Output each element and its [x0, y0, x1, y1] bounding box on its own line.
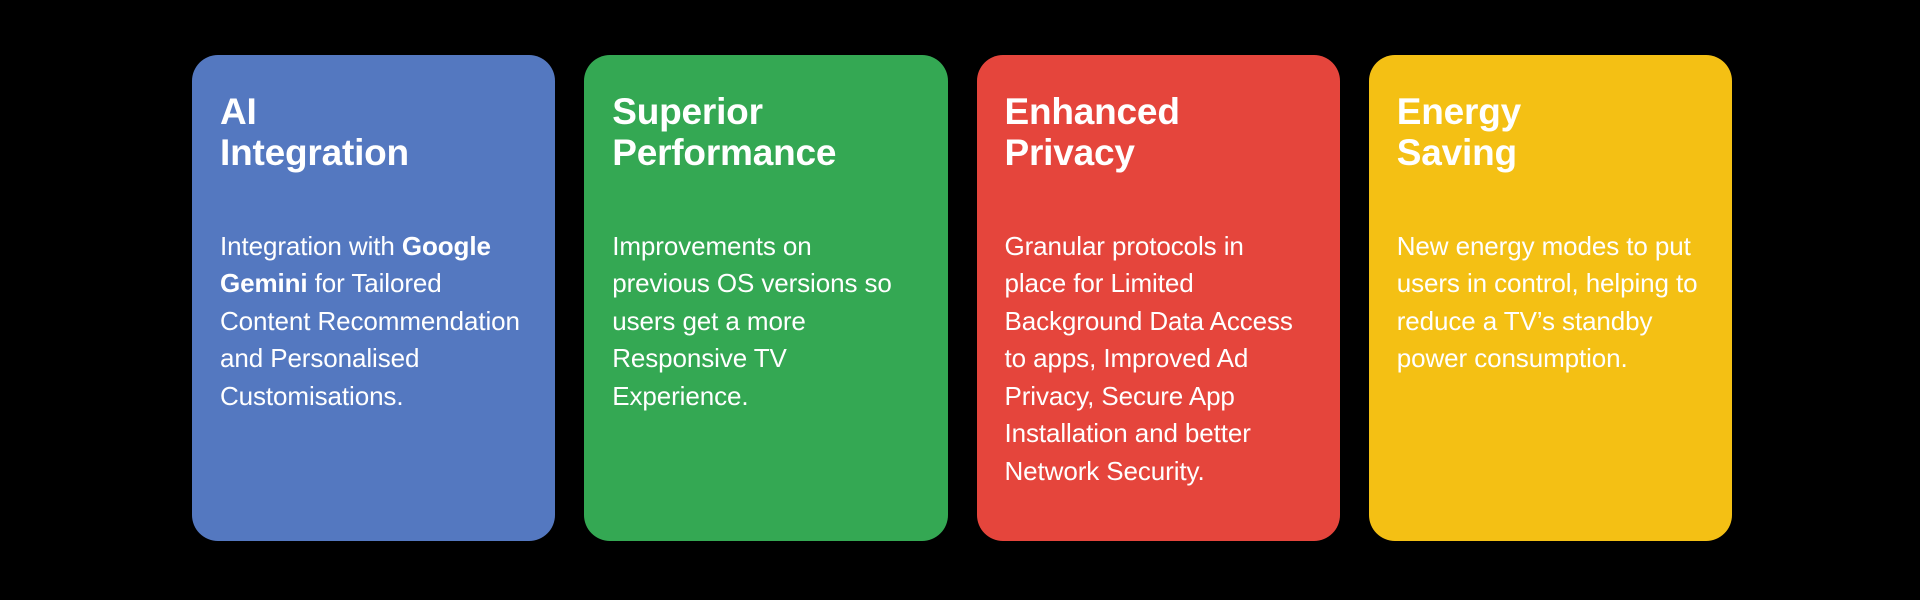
card-title: Superior Performance: [612, 91, 836, 174]
feature-card-energy-saving[interactable]: Energy Saving New energy modes to put us…: [1369, 55, 1732, 541]
card-body: New energy modes to put users in control…: [1397, 228, 1698, 378]
card-title: AI Integration: [220, 91, 409, 174]
feature-card-ai-integration[interactable]: AI Integration Integration with Google G…: [192, 55, 555, 541]
feature-card-superior-performance[interactable]: Superior Performance Improvements on pre…: [584, 55, 947, 541]
card-title: Enhanced Privacy: [1005, 91, 1180, 174]
feature-card-row: AI Integration Integration with Google G…: [192, 55, 1732, 541]
feature-cards-stage: AI Integration Integration with Google G…: [0, 0, 1920, 600]
card-body: Improvements on previous OS versions so …: [612, 228, 913, 415]
card-body: Integration with Google Gemini for Tailo…: [220, 228, 521, 415]
card-body: Granular protocols in place for Limited …: [1005, 228, 1306, 490]
feature-card-enhanced-privacy[interactable]: Enhanced Privacy Granular protocols in p…: [977, 55, 1340, 541]
card-title: Energy Saving: [1397, 91, 1521, 174]
